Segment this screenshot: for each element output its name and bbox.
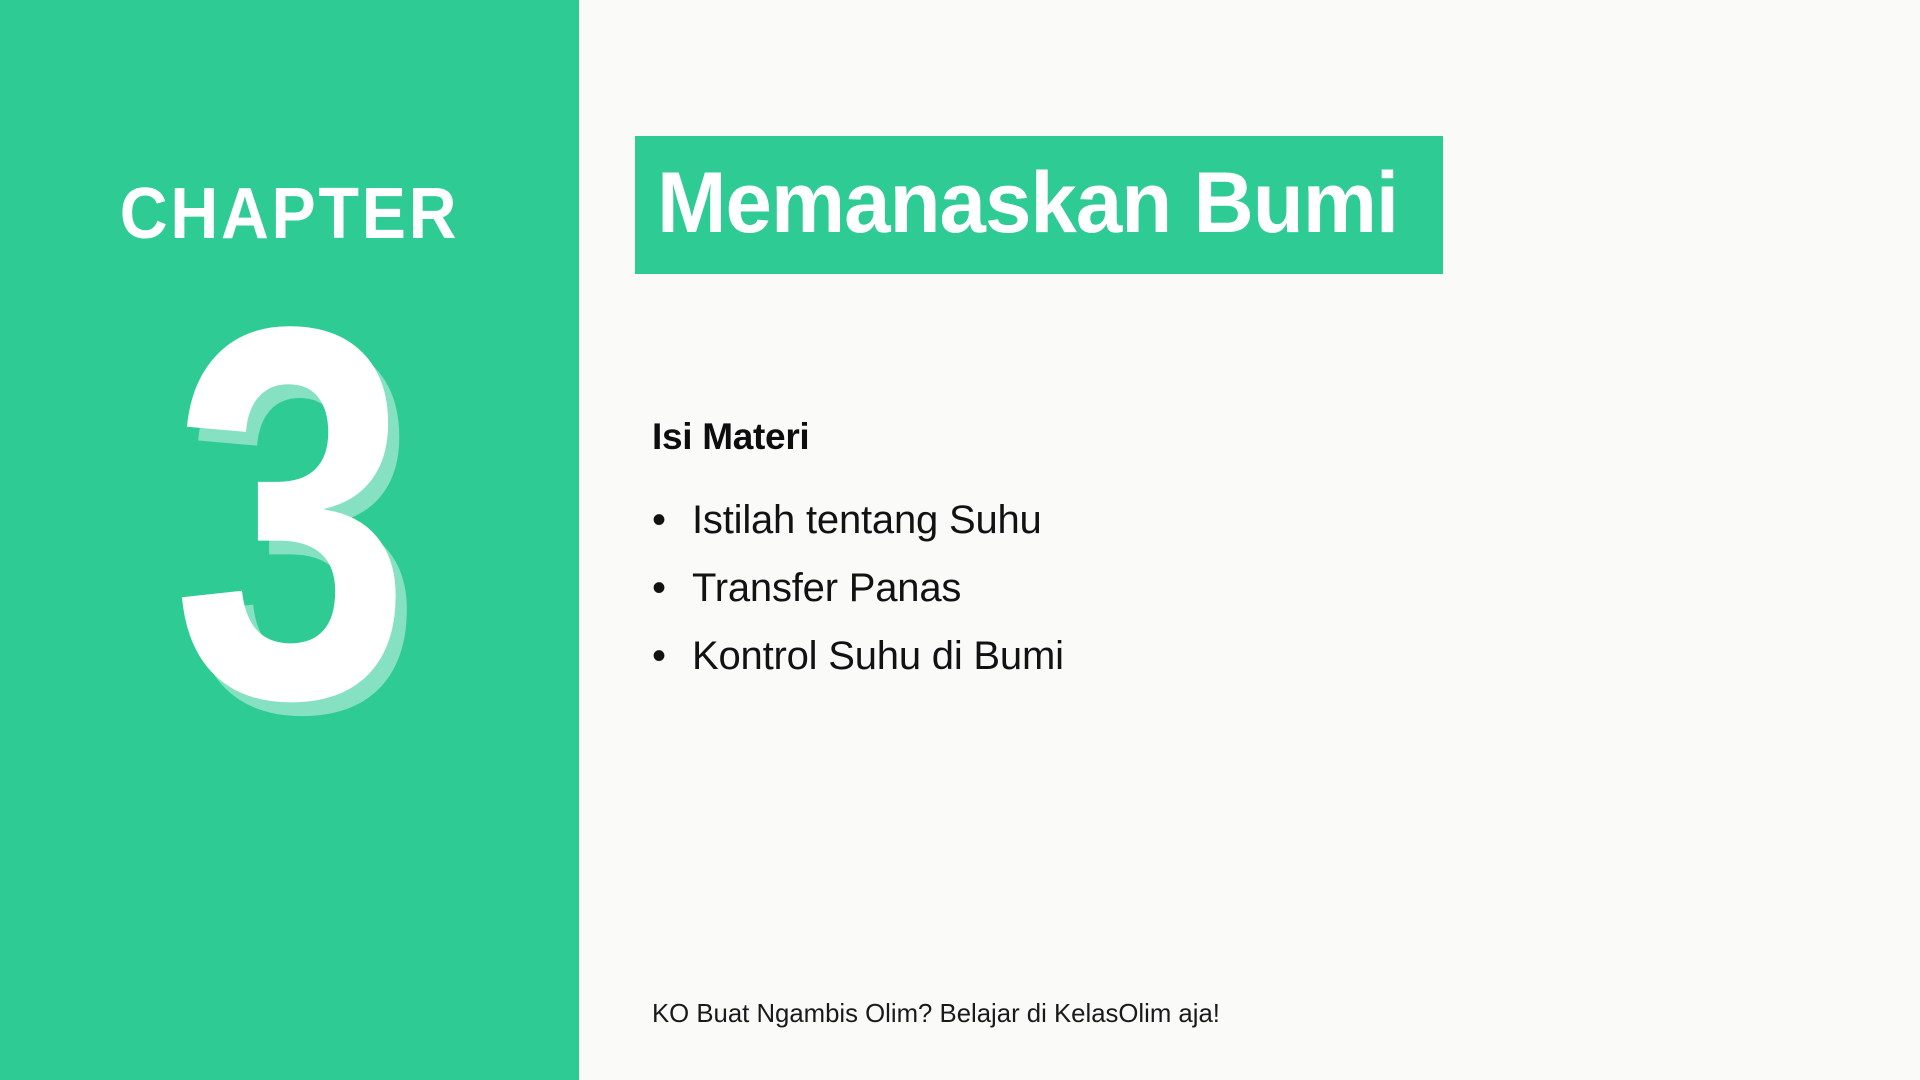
materi-bullet-list: • Istilah tentang Suhu • Transfer Panas … xyxy=(652,500,1064,704)
list-item-label: Istilah tentang Suhu xyxy=(692,500,1042,540)
section-heading: Isi Materi xyxy=(652,418,809,455)
bullet-dot-icon: • xyxy=(652,568,692,608)
list-item-label: Transfer Panas xyxy=(692,568,961,608)
content-area: Memanaskan Bumi Isi Materi • Istilah ten… xyxy=(579,0,1920,1080)
list-item: • Istilah tentang Suhu xyxy=(652,500,1064,540)
bullet-dot-icon: • xyxy=(652,500,692,540)
page-title: Memanaskan Bumi xyxy=(657,157,1398,250)
footer-note: KO Buat Ngambis Olim? Belajar di KelasOl… xyxy=(652,1000,1220,1026)
chapter-number-container: 3 xyxy=(0,248,579,808)
slide-root: CHAPTER 3 Memanaskan Bumi Isi Materi • I… xyxy=(0,0,1920,1080)
list-item-label: Kontrol Suhu di Bumi xyxy=(692,636,1064,676)
title-banner: Memanaskan Bumi xyxy=(635,136,1443,274)
chapter-sidebar: CHAPTER 3 xyxy=(0,0,579,1080)
list-item: • Kontrol Suhu di Bumi xyxy=(652,636,1064,676)
bullet-dot-icon: • xyxy=(652,636,692,676)
list-item: • Transfer Panas xyxy=(652,568,1064,608)
chapter-number: 3 xyxy=(172,248,406,778)
